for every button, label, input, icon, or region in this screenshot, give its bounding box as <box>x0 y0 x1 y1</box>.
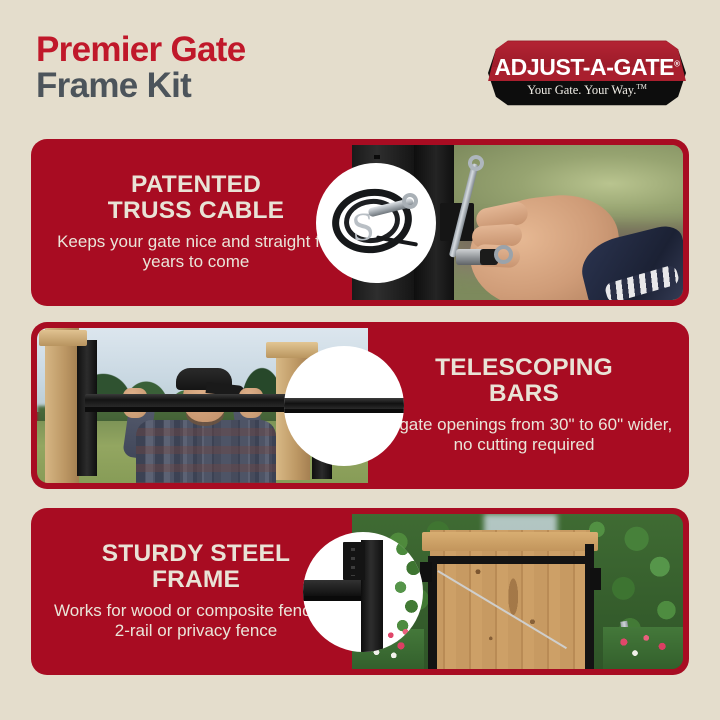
panel-2-subtext: Fit gate openings from 30" to 60" wider,… <box>373 415 675 456</box>
photo-2-plaid-pattern <box>136 420 276 483</box>
title-line-premier-gate: Premier Gate <box>36 32 246 68</box>
header: Premier Gate Frame Kit ADJUST-A-GATE® Yo… <box>0 0 720 130</box>
logo-tagline: Your Gate. Your Way.TM <box>488 83 686 98</box>
photo-2-post-cap-left <box>39 330 87 346</box>
logo-brand-name: ADJUST-A-GATE® <box>488 54 686 81</box>
photo-2-wood-post-left <box>45 328 79 483</box>
adjust-a-gate-logo: ADJUST-A-GATE® Your Gate. Your Way.TM <box>488 38 686 108</box>
panel-3-heading-line-1: STURDY STEEL <box>102 541 290 567</box>
photo-1-cable-eye-bottom <box>494 245 513 264</box>
panel-2-text: TELESCOPING BARS Fit gate openings from … <box>359 322 689 489</box>
title-line-frame-kit: Frame Kit <box>36 68 246 104</box>
photo-3-hinge-right <box>590 568 601 590</box>
panel-1-text: PATENTED TRUSS CABLE Keeps your gate nic… <box>31 139 361 306</box>
telescoping-bar-closeup <box>284 398 404 409</box>
panel-2-heading: TELESCOPING BARS <box>435 355 613 408</box>
frame-closeup-flowers <box>377 624 423 652</box>
panel-1-heading-line-2: TRUSS CABLE <box>108 198 284 224</box>
trademark-mark-icon: TM <box>636 83 647 91</box>
panel-1-heading: PATENTED TRUSS CABLE <box>108 172 284 225</box>
panel-2-heading-line-1: TELESCOPING <box>435 355 613 381</box>
panel-2-circle-callout <box>284 346 404 466</box>
panel-1-heading-line-1: PATENTED <box>108 172 284 198</box>
panel-1-subtext: Keeps your gate nice and straight for ye… <box>45 232 347 273</box>
panel-3-circle-callout <box>303 532 423 652</box>
photo-3-top-rail <box>422 532 598 551</box>
photo-3-steel-frame-right <box>585 544 594 669</box>
photo-3-flowers-right <box>603 627 683 669</box>
registered-mark-icon: ® <box>674 59 680 68</box>
feature-panel-steel-frame: STURDY STEEL FRAME Works for wood or com… <box>31 508 689 675</box>
telescoping-bar-closeup-shadow <box>284 409 404 413</box>
logo-tagline-text: Your Gate. Your Way. <box>527 83 636 97</box>
panel-3-heading-line-2: FRAME <box>102 567 290 593</box>
logo-brand-text: ADJUST-A-GATE <box>494 54 674 80</box>
panel-1-circle-callout: S <box>316 163 436 283</box>
feature-panel-telescoping-bars: TELESCOPING BARS Fit gate openings from … <box>31 322 689 489</box>
panel-3-subtext: Works for wood or composite fencing, 2-r… <box>45 601 347 642</box>
panel-2-heading-line-2: BARS <box>435 381 613 407</box>
photo-3-steel-frame-top <box>428 556 594 564</box>
feature-panel-truss-cable: S PATENTED TRUSS CABLE Keeps your gate n… <box>31 139 689 306</box>
steel-frame-bracket-holes <box>351 548 355 576</box>
page-title: Premier Gate Frame Kit <box>36 32 246 103</box>
panel-3-heading: STURDY STEEL FRAME <box>102 541 290 594</box>
